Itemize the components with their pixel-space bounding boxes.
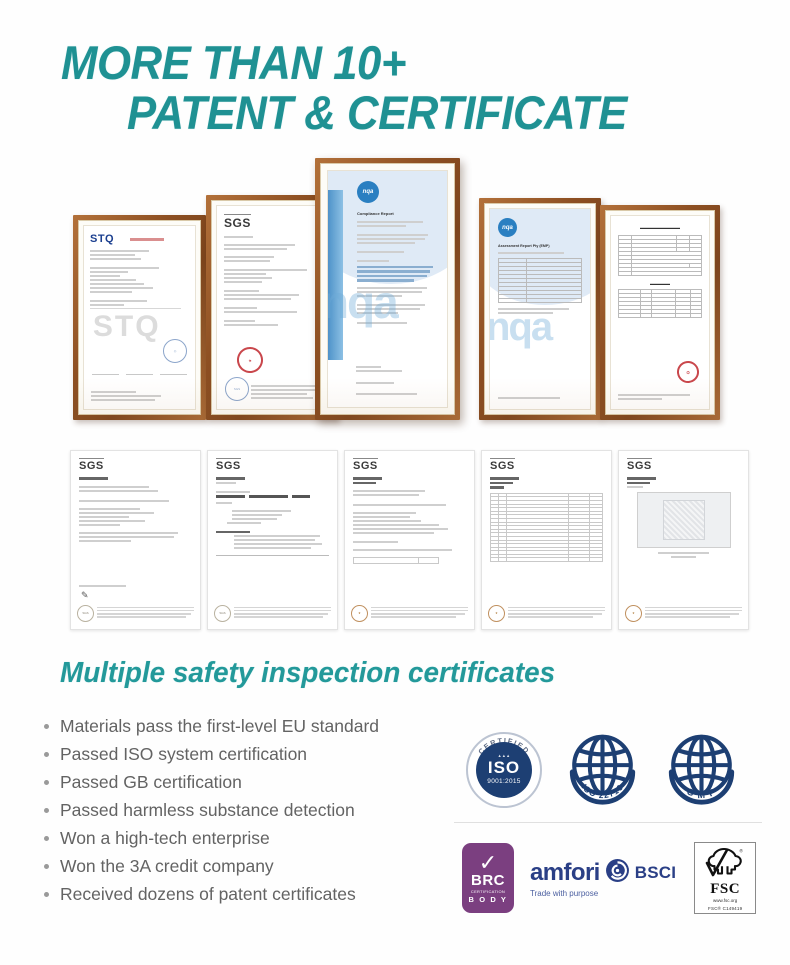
iso-22716-globe-icon: ISO 22716	[566, 731, 639, 809]
list-item: Won a high-tech enterprise	[44, 824, 464, 852]
doc-body-text	[490, 477, 603, 489]
framed-certificate-gallery: STQ STQ ◎	[0, 155, 790, 420]
sgs-footer-seal-icon: SGS	[225, 377, 249, 401]
sgs-report-3[interactable]: SGS ★	[344, 450, 475, 630]
amfori-bsci-logo: amfori BSCI Trade with purpose	[530, 858, 676, 898]
heading-line-1: MORE THAN 10+	[61, 38, 406, 88]
blue-seal-icon: ◎	[163, 339, 187, 363]
brc-main-text: BRC	[471, 874, 505, 888]
sgs-report-5[interactable]: SGS ★	[618, 450, 749, 630]
nqa-watermark: nqa	[489, 305, 551, 350]
frame-mat: STQ STQ ◎	[78, 220, 201, 415]
certificate-paper-sgs: SGS ★ SGS	[216, 205, 328, 410]
sgs-logo: SGS	[79, 458, 104, 472]
bsci-wordmark: BSCI	[635, 861, 676, 885]
certification-logos-row-2: ✓ BRC CERTIFICATION B O D Y amfori BSCI	[452, 834, 768, 922]
brc-sub-text: CERTIFICATION	[471, 889, 505, 894]
list-item: Materials pass the first-level EU standa…	[44, 712, 464, 740]
nqa-logo: nqa	[357, 181, 379, 203]
fsc-url: www.fsc.org	[713, 898, 737, 903]
sgs-logo: SGS	[490, 458, 515, 472]
gmp-globe-icon: G M P	[665, 731, 738, 809]
list-item-label: Passed ISO system certification	[60, 744, 307, 765]
iso-badge-core: ▲▲▲ ISO 9001:2015	[476, 742, 532, 798]
doc-signature-block	[356, 366, 439, 397]
doc-inline-labels	[216, 495, 329, 498]
list-item: Passed harmless substance detection	[44, 796, 464, 824]
iso-badge-ribbon: ▲▲▲	[498, 754, 511, 758]
list-item-label: Received dozens of patent certificates	[60, 884, 356, 905]
amfori-wordmark: amfori	[530, 861, 600, 885]
bullet-dot-icon	[44, 780, 49, 785]
doc-footer-text	[251, 385, 321, 401]
doc-signature-block	[79, 585, 192, 589]
certification-logos-row-1: CERTIFIED COMPANY ▲▲▲ ISO 9001:2015	[452, 726, 768, 814]
doc-body-text	[353, 477, 466, 551]
doc-body-text	[498, 252, 582, 254]
framed-certificate-nqa-compliance[interactable]: nqa Compliance Report	[315, 158, 460, 420]
photo-caption	[627, 552, 740, 558]
brc-body-text: B O D Y	[469, 895, 508, 904]
list-item: Won the 3A credit company	[44, 852, 464, 880]
sample-photo	[637, 492, 731, 548]
bullet-dot-icon	[44, 752, 49, 757]
benefits-list: Materials pass the first-level EU standa…	[44, 712, 464, 908]
sgs-report-1[interactable]: SGS ✎ SGS	[70, 450, 201, 630]
cn-report-title: ▬▬▬▬▬▬▬▬▬▬	[618, 225, 702, 230]
nqa-watermark: nqa	[327, 275, 397, 329]
checkmark-icon: ✓	[479, 854, 497, 872]
svg-text:®: ®	[740, 848, 744, 854]
brc-logo-icon: ✓ BRC CERTIFICATION B O D Y	[462, 843, 514, 913]
list-item: Passed GB certification	[44, 768, 464, 796]
certificate-paper-nqa2: nqa Assessment Report Pty (EMP)	[489, 208, 591, 410]
framed-certificate-stq[interactable]: STQ STQ ◎	[73, 215, 206, 420]
iso-9001-badge-icon: CERTIFIED COMPANY ▲▲▲ ISO 9001:2015	[466, 732, 542, 808]
list-item-label: Materials pass the first-level EU standa…	[60, 716, 379, 737]
fsc-tree-checkmark-icon: ®	[705, 847, 745, 880]
doc-results-table	[490, 493, 603, 562]
doc-signature-block	[618, 394, 702, 402]
doc-footer: SGS	[214, 602, 331, 624]
doc-body-text	[79, 477, 192, 542]
frame-mat: nqa Assessment Report Pty (EMP)	[484, 203, 596, 415]
doc-results-table	[216, 552, 329, 588]
certification-logos: CERTIFIED COMPANY ▲▲▲ ISO 9001:2015	[452, 726, 768, 922]
list-item-label: Passed GB certification	[60, 772, 242, 793]
bullet-dot-icon	[44, 864, 49, 869]
hero-heading: MORE THAN 10+ PATENT & CERTIFICATE	[0, 38, 790, 150]
fsc-license-code: FSC® C149419	[708, 906, 742, 911]
amfori-tagline: Trade with purpose	[530, 889, 676, 898]
nqa-logo: nqa	[498, 218, 517, 237]
fsc-logo-icon: ® FSC www.fsc.org FSC® C149419	[694, 842, 756, 914]
doc-body-text-2	[216, 502, 329, 550]
section-subheading: Multiple safety inspection certificates	[60, 657, 555, 690]
list-item-label: Won the 3A credit company	[60, 856, 274, 877]
sgs-logo: SGS	[224, 214, 251, 230]
fsc-wordmark: FSC	[710, 881, 740, 898]
list-item: Passed ISO system certification	[44, 740, 464, 768]
stq-watermark: STQ	[93, 310, 161, 344]
sgs-report-2[interactable]: SGS	[207, 450, 338, 630]
sgs-report-row: SGS ✎ SGS SGS	[0, 450, 790, 635]
doc-body-text	[627, 477, 740, 488]
frame-mat: ▬▬▬▬▬▬▬▬▬▬ ▬▬▬▬▬	[605, 210, 715, 415]
framed-certificate-nqa-assessment[interactable]: nqa Assessment Report Pty (EMP)	[479, 198, 601, 420]
iso-badge-sub-text: 9001:2015	[487, 779, 520, 786]
list-item: Received dozens of patent certificates	[44, 880, 464, 908]
doc-data-table-bottom	[618, 289, 702, 318]
doc-body-text	[357, 221, 438, 262]
doc-footer: SGS	[77, 602, 194, 624]
certificate-paper-cn: ▬▬▬▬▬▬▬▬▬▬ ▬▬▬▬▬	[610, 215, 710, 410]
list-item-label: Passed harmless substance detection	[60, 800, 355, 821]
sgs-logo: SGS	[627, 458, 652, 472]
doc-footer: ★	[488, 602, 605, 624]
red-official-seal-icon: ✪	[676, 360, 701, 385]
frame-mat: nqa Compliance Report	[320, 163, 455, 415]
doc-body-text	[90, 250, 189, 306]
cnas-seal-icon: ★	[625, 605, 642, 622]
nqa-report-title: Compliance Report	[357, 211, 438, 216]
logo-divider	[454, 822, 762, 823]
bullet-dot-icon	[44, 808, 49, 813]
doc-body-text	[216, 477, 329, 493]
amfori-swirl-icon	[605, 858, 630, 888]
doc-footer: ★	[351, 602, 468, 624]
sgs-logo: SGS	[216, 458, 241, 472]
nqa-report-title: Assessment Report Pty (EMP)	[498, 244, 582, 248]
certificate-paper-nqa: nqa Compliance Report	[327, 170, 448, 408]
doc-footer: ★	[625, 602, 742, 624]
sgs-logo: SGS	[353, 458, 378, 472]
cnas-seal-icon: ★	[488, 605, 505, 622]
certificate-paper-stq: STQ STQ ◎	[83, 225, 196, 410]
heading-line-2: PATENT & CERTIFICATE	[127, 88, 627, 138]
bullet-dot-icon	[44, 836, 49, 841]
doc-body-text	[224, 236, 320, 326]
sgs-seal-icon: SGS	[77, 605, 94, 622]
doc-footer-text	[498, 397, 582, 401]
sgs-seal-icon: SGS	[214, 605, 231, 622]
doc-footer-text	[91, 391, 188, 403]
framed-certificate-cn-report[interactable]: ▬▬▬▬▬▬▬▬▬▬ ▬▬▬▬▬	[600, 205, 720, 420]
bullet-dot-icon	[44, 724, 49, 729]
doc-small-table	[353, 557, 439, 564]
sample-photo-inner	[663, 500, 705, 540]
sgs-report-4[interactable]: SGS ★	[481, 450, 612, 630]
bullet-dot-icon	[44, 892, 49, 897]
handwritten-signature: ✎	[81, 590, 89, 601]
doc-data-table-top	[618, 235, 702, 276]
iso-badge-main-text: ISO	[488, 759, 520, 776]
cnas-seal-icon: ★	[351, 605, 368, 622]
red-seal-icon: ★	[235, 345, 266, 376]
doc-data-table	[498, 258, 582, 303]
list-item-label: Won a high-tech enterprise	[60, 828, 270, 849]
